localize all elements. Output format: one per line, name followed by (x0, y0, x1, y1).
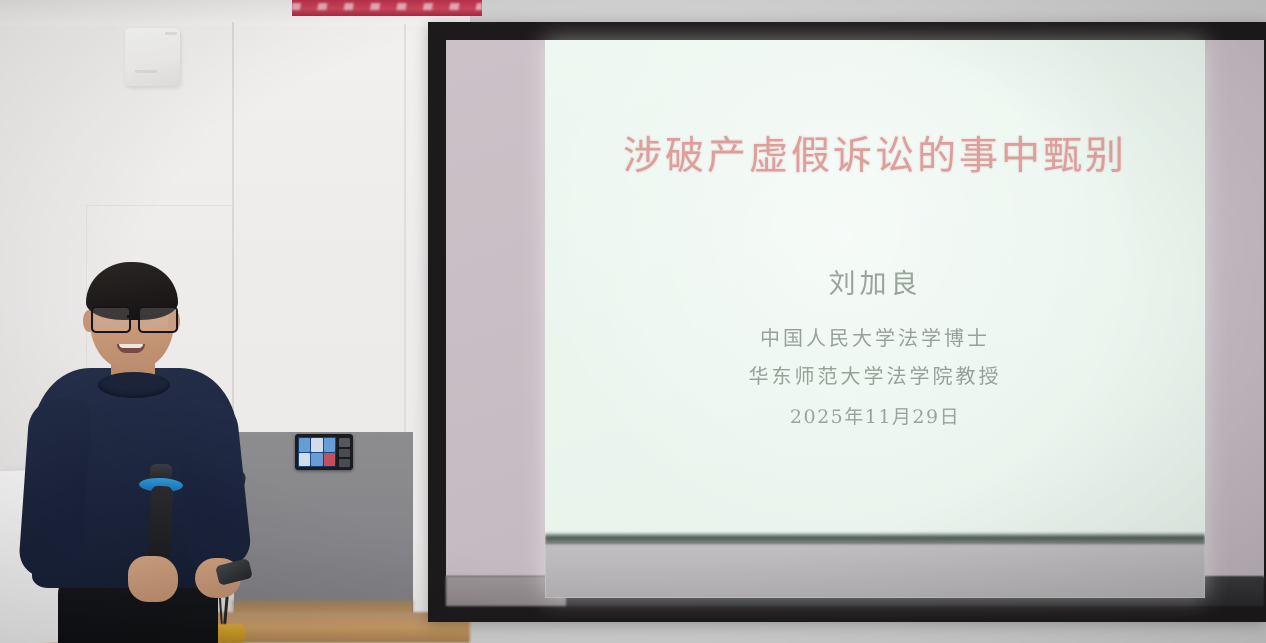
control-tile-6[interactable] (324, 453, 335, 467)
slide-author-name: 刘加良 (545, 262, 1205, 301)
control-tile-2[interactable] (311, 438, 322, 452)
device-label-tag (165, 32, 177, 35)
projected-slide: 涉破产虚假诉讼的事中甄别 刘加良 中国人民大学法学博士 华东师范大学法学院教授 … (545, 40, 1205, 598)
presenter-hand-holding-microphone (128, 556, 178, 602)
presenter (10, 240, 270, 643)
glasses-lens-left (91, 306, 131, 333)
control-button-up[interactable] (339, 449, 350, 457)
slide-affiliation-line-1: 中国人民大学法学博士 (545, 322, 1205, 351)
glasses-lens-right (138, 306, 178, 333)
control-tile-1[interactable] (299, 438, 310, 452)
foreground-occlusion-band (545, 532, 1205, 544)
lecture-photo-scene: 涉破产虚假诉讼的事中甄别 刘加良 中国人民大学法学博士 华东师范大学法学院教授 … (0, 0, 1266, 643)
red-banner (292, 0, 482, 16)
control-button-down[interactable] (339, 459, 350, 467)
control-panel-buttons[interactable] (339, 437, 350, 467)
av-control-panel[interactable] (295, 434, 353, 470)
control-panel-touchscreen[interactable] (298, 437, 336, 467)
foreground-occlusion-base (545, 542, 1205, 598)
glasses-icon (89, 306, 177, 330)
control-tile-5[interactable] (311, 453, 322, 467)
control-button-power[interactable] (339, 438, 350, 447)
slide-title: 涉破产虚假诉讼的事中甄别 (545, 125, 1205, 181)
slide-date: 2025年11月29日 (545, 402, 1205, 429)
presenter-collar (98, 372, 170, 398)
wall-speaker-device (125, 28, 180, 86)
slide-affiliation-line-2: 华东师范大学法学院教授 (545, 360, 1205, 389)
control-tile-3[interactable] (324, 438, 335, 452)
presenter-left-arm (18, 396, 92, 580)
control-tile-4[interactable] (299, 453, 310, 467)
projection-glow (545, 40, 1205, 598)
glasses-bridge (127, 315, 138, 318)
